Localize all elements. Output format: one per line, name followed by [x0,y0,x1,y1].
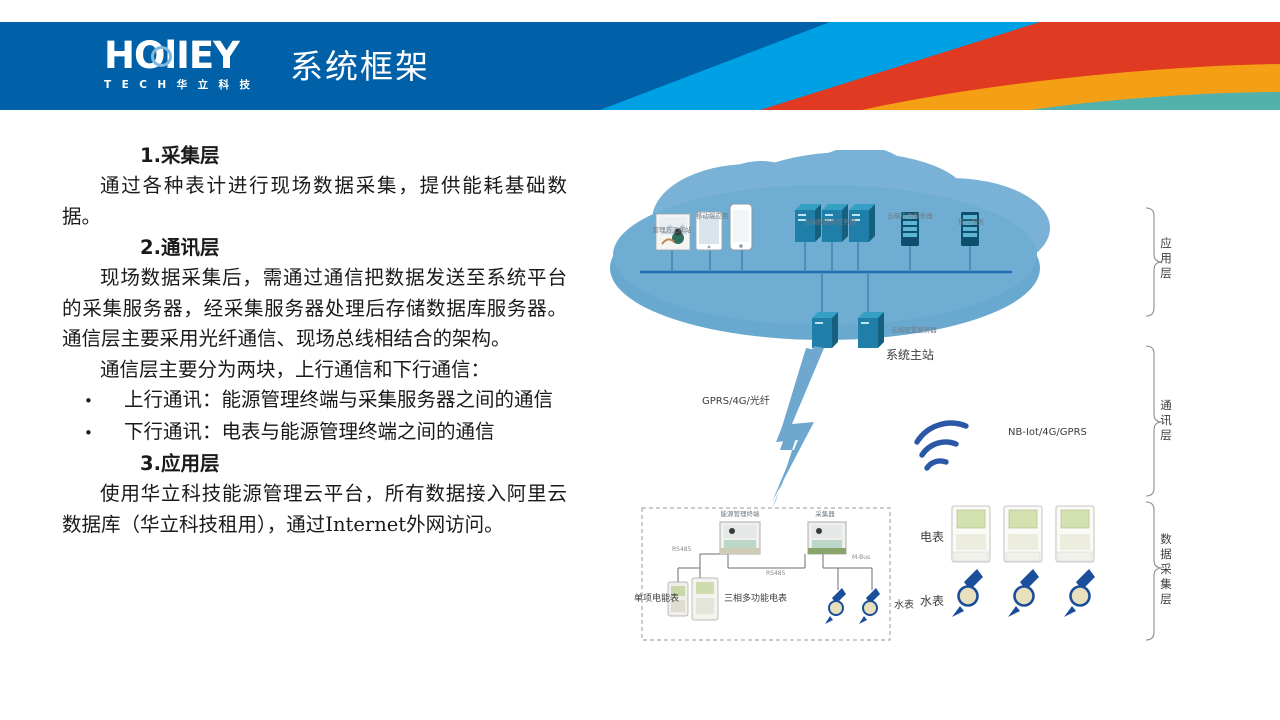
list-item: 下行通讯：电表与能源管理终端之间的通信 [62,417,567,449]
brace-char: 数 [1160,532,1172,546]
water-meter-icon [952,569,983,617]
section-2-paragraph-2: 通信层主要分为两块，上行通信和下行通信： [62,355,567,386]
section-3-paragraph-1: 使用华立科技能源管理云平台，所有数据接入阿里云数据库（华立科技租用），通过Int… [62,479,567,540]
brace-char: 据 [1160,547,1172,561]
section-heading-3: 3.应用层 [140,448,567,479]
label-bus-rs485-1: RS485 [672,546,691,553]
water-meter-icon [859,588,880,624]
brace-char: 应 [1160,236,1172,250]
header-banner: HOlIEY T E C H 华 立 科 技 系统框架 [0,22,1280,110]
electric-meter-icon [952,506,990,562]
section-heading-1: 1.采集层 [140,140,567,171]
section-2-paragraph-1: 现场数据采集后，需通过通信把数据发送至系统平台的采集服务器，经采集服务器处理后存… [62,263,567,355]
label-cloud-config-server: 云端配置服务器 [886,326,942,334]
label-uplink-media: GPRS/4G/光纤 [702,392,770,407]
slide: HOlIEY T E C H 华 立 科 技 系统框架 1.采集层 通过各种表计… [0,0,1280,720]
label-single-phase-meter: 单项电能表 [634,594,672,605]
section-number-3: 3. [140,452,161,475]
water-meter-icon [825,588,846,624]
label-field-water-meter: 水表 [890,602,918,610]
section-heading-2: 2.通讯层 [140,232,567,263]
label-bus-rs485-2: RS485 [766,570,785,577]
section-number-2: 2. [140,236,161,259]
brace-char: 用 [1160,251,1172,265]
smartphone-icon [730,204,752,250]
label-water-meters: 水表 [920,592,944,609]
label-master-station: 系统主站 [886,346,934,363]
bullet-icon [62,417,124,449]
label-energy-terminal: 能源管理终端 [708,510,772,518]
section-title-1: 采集层 [161,144,220,167]
section-title-3: 应用层 [161,452,220,475]
brace-char: 层 [1160,592,1172,606]
brace-char: 层 [1160,428,1172,442]
label-electric-meters: 电表 [920,528,944,545]
label-three-phase-meter: 三相多功能电表 [724,594,784,605]
body-text-column: 1.采集层 通过各种表计进行现场数据采集，提供能耗基础数据。 2.通讯层 现场数… [62,140,567,540]
brace-label-communication-layer: 通 讯 层 [1158,398,1174,443]
brace-char: 层 [1160,266,1172,280]
holley-logo: HOlIEY T E C H 华 立 科 技 [104,36,274,98]
bullet-icon [62,385,124,417]
list-item: 上行通讯：能源管理终端与采集服务器之间的通信 [62,385,567,417]
architecture-diagram: 管理方工作站 移动端应用 云端数据库服务器 云端应用服务器 接口服务 云端配置服… [600,150,1220,670]
label-cloud-database-server: 云端数据库服务器 [785,218,875,226]
section-title-2: 通讯层 [161,236,220,259]
label-cloud-application-server: 云端应用服务器 [882,212,938,220]
brace-char: 通 [1160,398,1172,412]
energy-management-terminal-icon [720,522,760,554]
brace-label-data-acquisition-layer: 数 据 采 集 层 [1158,532,1174,607]
water-meter-icon [1008,569,1039,617]
label-mobile-app: 移动端应用 [684,212,740,220]
collector-icon [808,522,846,554]
section-1-paragraph-1: 通过各种表计进行现场数据采集，提供能耗基础数据。 [62,171,567,232]
brace-char: 讯 [1160,413,1172,427]
logo-subtitle: T E C H 华 立 科 技 [104,77,274,92]
label-bus-mbus: M-Bus [852,554,870,561]
label-workstation: 管理方工作站 [644,226,700,234]
three-phase-meter-icon [692,578,718,620]
water-meter-icon [1064,569,1095,617]
wifi-icon [917,423,966,468]
bullet-text-1: 上行通讯：能源管理终端与采集服务器之间的通信 [124,388,553,411]
label-downlink-media: NB-Iot/4G/GPRS [1008,427,1087,438]
bullet-text-2: 下行通讯：电表与能源管理终端之间的通信 [124,420,495,443]
logo-ring-icon [151,46,172,67]
page-title: 系统框架 [290,40,430,88]
section-number-1: 1. [140,144,161,167]
brace-char: 采 [1160,562,1172,576]
electric-meter-icon [1056,506,1094,562]
electric-meter-icon [1004,506,1042,562]
label-interface-service: 接口服务 [946,218,996,226]
logo-wordmark: HOlIEY [104,36,274,76]
lightning-bolt-icon-2 [772,346,824,502]
brace-label-application-layer: 应 用 层 [1158,236,1174,281]
brace-char: 集 [1160,577,1172,591]
label-collector: 采集器 [796,510,854,518]
